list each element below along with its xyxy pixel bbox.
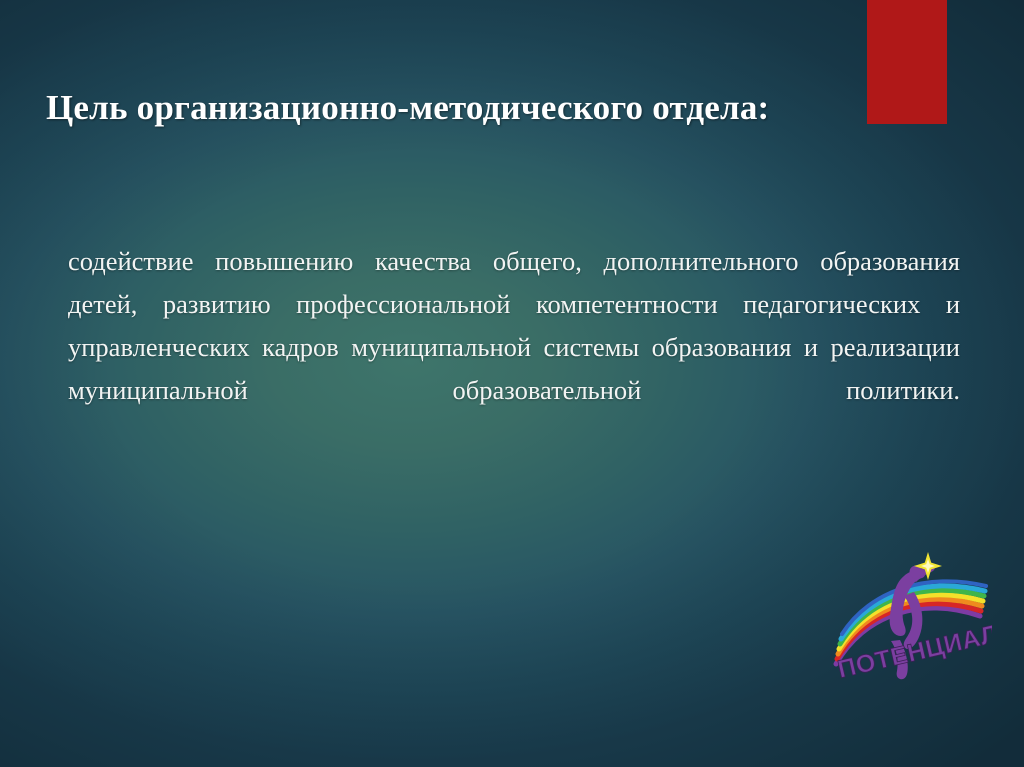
slide-body-paragraph: содействие повышению качества общего, до… <box>68 240 960 455</box>
slide-title: Цель организационно-методического отдела… <box>46 87 976 128</box>
potential-logo: ПОТЕНЦИАЛ <box>830 552 992 692</box>
slide-body: содействие повышению качества общего, до… <box>68 240 960 455</box>
presentation-slide: Цель организационно-методического отдела… <box>0 0 1024 767</box>
